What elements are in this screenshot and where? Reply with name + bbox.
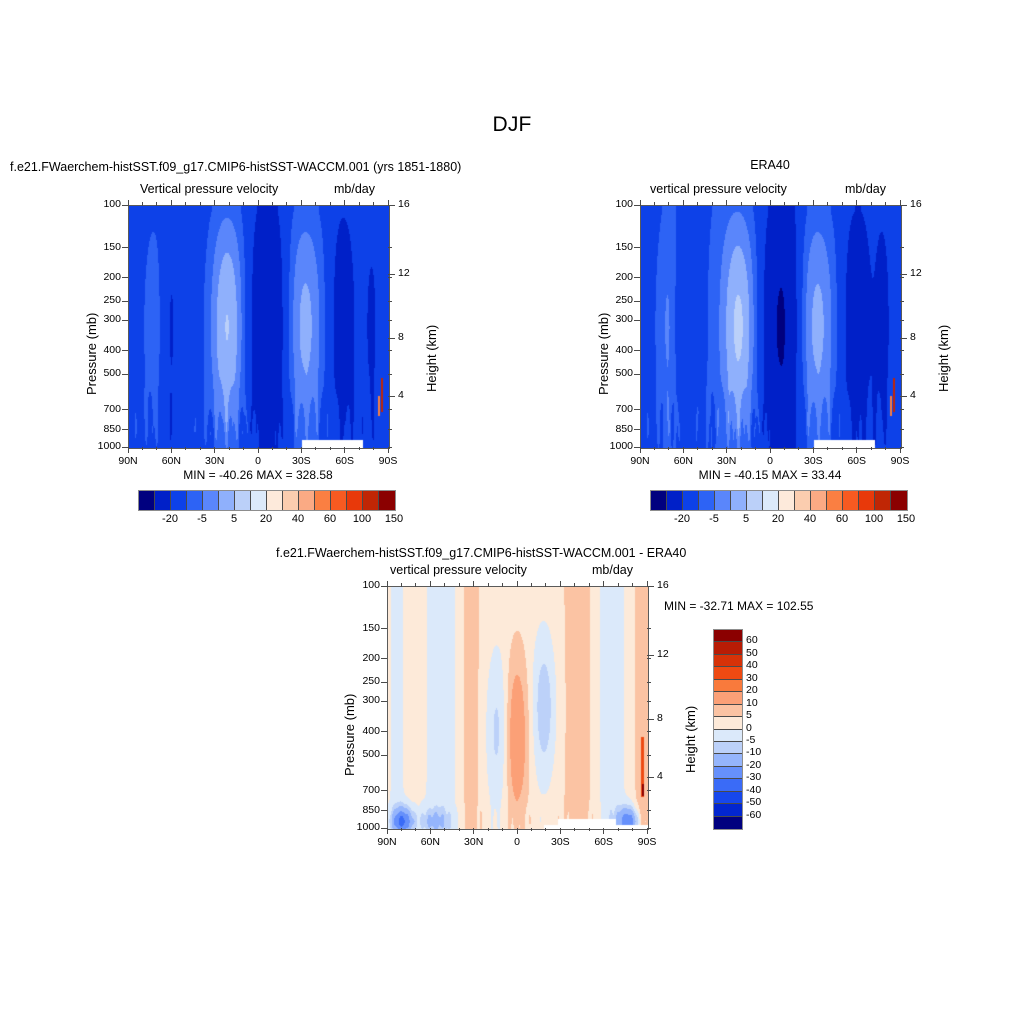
- diff-ytick-mark-r-400: [647, 731, 651, 732]
- colorbar-cell-0: [651, 491, 667, 510]
- model-ytick-mark-r-500: [388, 374, 392, 375]
- model-xtick-minor: [200, 447, 201, 450]
- diff-ytick-label-100: 100: [347, 579, 380, 591]
- obs-xtick-minor: [827, 447, 828, 450]
- diff-xtick-label-90N: 90N: [365, 836, 409, 848]
- obs-xtick-minor-top: [741, 202, 742, 206]
- diff-xtick-mark-0: [517, 828, 518, 834]
- diff-colorbar-label-50: 50: [746, 647, 786, 659]
- model-xtick-minor: [243, 447, 244, 450]
- diff-ytick-label-150: 150: [347, 622, 380, 634]
- model-units-label: mb/day: [334, 182, 375, 196]
- model-ytick-mark-150: [122, 247, 128, 248]
- model-xtick-mark-top-90N: [128, 200, 129, 206]
- model-xtick-label-90S: 90S: [366, 455, 410, 467]
- obs-ytick-mark-700: [634, 409, 640, 410]
- colorbar-cell-13: [347, 491, 363, 510]
- diff-xtick-label-30N: 30N: [452, 836, 496, 848]
- obs-ytick-mark-r-700: [900, 409, 904, 410]
- diff-xtick-mark-60N: [430, 828, 431, 834]
- model-htick-label-16: 16: [398, 198, 422, 210]
- model-htick-label-4: 4: [398, 389, 422, 401]
- diff-colorbar-label-20: 20: [746, 684, 786, 696]
- model-ytick-mark-r-1000: [388, 447, 392, 448]
- obs-xtick-mark-90N: [640, 447, 641, 453]
- model-xtick-mark-top-30S: [301, 200, 302, 206]
- model-xtick-label-30S: 30S: [279, 455, 323, 467]
- model-ytick-mark-250: [122, 301, 128, 302]
- obs-ytick-mark-r-850: [900, 429, 904, 430]
- diff-xtick-minor: [545, 828, 546, 831]
- diff-ytick-mark-500: [381, 755, 387, 756]
- colorbar-cell-4: [715, 491, 731, 510]
- model-xtick-minor: [156, 447, 157, 450]
- obs-xtick-mark-top-90N: [640, 200, 641, 206]
- diff-xtick-minor-top: [589, 583, 590, 587]
- diff-ytick-mark-150: [381, 628, 387, 629]
- model-contour-canvas: [129, 206, 389, 448]
- model-xtick-minor: [315, 447, 316, 450]
- model-variable-label: Vertical pressure velocity: [140, 182, 278, 196]
- diff-colorbar-label--30: -30: [746, 771, 786, 783]
- model-ytick-mark-r-150: [388, 247, 392, 248]
- obs-xtick-mark-0: [770, 447, 771, 453]
- diff-xtick-mark-top-30S: [560, 581, 561, 587]
- diff-xtick-minor-top: [531, 583, 532, 587]
- diff-xtick-label-0: 0: [495, 836, 539, 848]
- obs-htick-mark-16: [900, 205, 907, 206]
- diff-ytick-mark-r-200: [647, 658, 651, 659]
- colorbar-cell-14: [363, 491, 379, 510]
- diff-xtick-mark-top-0: [517, 581, 518, 587]
- model-ytick-label-1000: 1000: [88, 440, 121, 452]
- obs-xtick-mark-60S: [856, 447, 857, 453]
- obs-xtick-label-30N: 30N: [705, 455, 749, 467]
- diff-colorbar-label-30: 30: [746, 672, 786, 684]
- model-xtick-mark-top-60N: [171, 200, 172, 206]
- diff-xtick-minor: [459, 828, 460, 831]
- model-y-axis-title: Pressure (mb): [84, 313, 99, 395]
- model-htick-label-12: 12: [398, 267, 422, 279]
- obs-htick-mark-8: [900, 338, 907, 339]
- diff-ytick-label-850: 850: [347, 804, 380, 816]
- colorbar-cell-11: [315, 491, 331, 510]
- colorbar-cell-5: [731, 491, 747, 510]
- obs-xtick-mark-top-60S: [856, 200, 857, 206]
- obs-contour-canvas: [641, 206, 901, 448]
- obs-xtick-mark-top-0: [770, 200, 771, 206]
- model-xtick-minor-top: [156, 202, 157, 206]
- model-ytick-mark-r-300: [388, 320, 392, 321]
- model-y2-axis-title: Height (km): [424, 325, 439, 392]
- model-xtick-label-60S: 60S: [323, 455, 367, 467]
- diff-colorbar-label--5: -5: [746, 734, 786, 746]
- model-xtick-minor-top: [359, 202, 360, 206]
- diff-ytick-mark-300: [381, 701, 387, 702]
- diff-ytick-mark-r-1000: [647, 828, 651, 829]
- colorbar-cell-3: [187, 491, 203, 510]
- diff-xtick-minor-top: [618, 583, 619, 587]
- obs-xtick-minor-top: [697, 202, 698, 206]
- model-xtick-minor-top: [185, 202, 186, 206]
- obs-xtick-minor-top: [668, 202, 669, 206]
- diff-y-axis-title: Pressure (mb): [342, 694, 357, 776]
- model-xtick-label-30N: 30N: [193, 455, 237, 467]
- model-xtick-mark-90N: [128, 447, 129, 453]
- obs-xtick-minor: [712, 447, 713, 450]
- diff-xtick-minor: [401, 828, 402, 831]
- obs-colorbar: [650, 490, 908, 511]
- obs-htick-mark-4: [900, 396, 907, 397]
- diff-xtick-mark-top-90N: [387, 581, 388, 587]
- diff-htick-mark-16: [647, 586, 654, 587]
- obs-contour-plot: [640, 205, 902, 449]
- model-xtick-minor: [286, 447, 287, 450]
- obs-xtick-minor: [668, 447, 669, 450]
- diff-htick-mark-12: [647, 655, 654, 656]
- diff-xtick-minor-top: [632, 583, 633, 587]
- diff-colorbar-label--40: -40: [746, 784, 786, 796]
- model-xtick-minor-top: [315, 202, 316, 206]
- model-ytick-label-850: 850: [88, 423, 121, 435]
- diff-colorbar-label-40: 40: [746, 659, 786, 671]
- obs-ytick-mark-300: [634, 320, 640, 321]
- obs-xtick-minor: [842, 447, 843, 450]
- diff-colorbar-cell-9: [714, 742, 742, 754]
- obs-xtick-minor: [798, 447, 799, 450]
- diff-colorbar-cell-1: [714, 642, 742, 654]
- model-xtick-minor: [373, 447, 374, 450]
- diff-colorbar: [713, 629, 743, 830]
- obs-htick-label-12: 12: [910, 267, 934, 279]
- colorbar-cell-7: [251, 491, 267, 510]
- diff-xtick-minor: [589, 828, 590, 831]
- obs-minmax-text: MIN = -40.15 MAX = 33.44: [640, 468, 900, 482]
- diff-ytick-mark-250: [381, 682, 387, 683]
- colorbar-cell-6: [747, 491, 763, 510]
- model-xtick-minor-top: [286, 202, 287, 206]
- model-xtick-mark-top-60S: [344, 200, 345, 206]
- diff-colorbar-label--50: -50: [746, 796, 786, 808]
- diff-htick-label-12: 12: [657, 648, 681, 660]
- obs-xtick-label-0: 0: [748, 455, 792, 467]
- model-ytick-label-700: 700: [88, 403, 121, 415]
- obs-variable-label: vertical pressure velocity: [650, 182, 787, 196]
- obs-ytick-mark-r-1000: [900, 447, 904, 448]
- obs-xtick-minor-top: [842, 202, 843, 206]
- diff-panel-caption: f.e21.FWaerchem-histSST.f09_g17.CMIP6-hi…: [276, 546, 686, 560]
- obs-xtick-label-90N: 90N: [618, 455, 662, 467]
- diff-colorbar-label--10: -10: [746, 746, 786, 758]
- obs-xtick-minor-top: [827, 202, 828, 206]
- model-htick-label-8: 8: [398, 331, 422, 343]
- model-xtick-mark-top-0: [258, 200, 259, 206]
- model-xtick-mark-60S: [344, 447, 345, 453]
- obs-ytick-mark-r-500: [900, 374, 904, 375]
- obs-xtick-mark-top-60N: [683, 200, 684, 206]
- model-xtick-mark-top-90S: [388, 200, 389, 206]
- obs-xtick-minor-top: [784, 202, 785, 206]
- diff-xtick-minor: [415, 828, 416, 831]
- model-ytick-label-250: 250: [88, 294, 121, 306]
- obs-panel-caption: ERA40: [640, 158, 900, 172]
- colorbar-label-150: 150: [881, 513, 931, 525]
- obs-ytick-label-250: 250: [600, 294, 633, 306]
- diff-xtick-label-90S: 90S: [625, 836, 669, 848]
- obs-ytick-mark-r-150: [900, 247, 904, 248]
- obs-xtick-minor-top: [885, 202, 886, 206]
- model-ytick-label-150: 150: [88, 241, 121, 253]
- colorbar-cell-7: [763, 491, 779, 510]
- model-htick-mark-12: [388, 274, 395, 275]
- obs-xtick-mark-60N: [683, 447, 684, 453]
- diff-ytick-mark-r-300: [647, 701, 651, 702]
- obs-xtick-minor: [654, 447, 655, 450]
- model-xtick-minor: [330, 447, 331, 450]
- model-ytick-mark-r-250: [388, 301, 392, 302]
- colorbar-label-150: 150: [369, 513, 419, 525]
- diff-colorbar-label-60: 60: [746, 634, 786, 646]
- diff-colorbar-cell-4: [714, 680, 742, 692]
- obs-ytick-mark-400: [634, 350, 640, 351]
- diff-xtick-minor-top: [502, 583, 503, 587]
- diff-ytick-label-1000: 1000: [347, 821, 380, 833]
- diff-xtick-minor: [531, 828, 532, 831]
- colorbar-cell-6: [235, 491, 251, 510]
- diff-minmax-text: MIN = -32.71 MAX = 102.55: [664, 599, 813, 613]
- model-xtick-mark-0: [258, 447, 259, 453]
- model-ytick-mark-r-200: [388, 277, 392, 278]
- model-ytick-label-100: 100: [88, 198, 121, 210]
- diff-contour-plot: [387, 586, 649, 830]
- model-xtick-mark-90S: [388, 447, 389, 453]
- obs-ytick-label-100: 100: [600, 198, 633, 210]
- obs-ytick-mark-r-400: [900, 350, 904, 351]
- model-xtick-label-90N: 90N: [106, 455, 150, 467]
- diff-htick-label-4: 4: [657, 770, 681, 782]
- obs-htick-mark-12: [900, 274, 907, 275]
- obs-ytick-mark-r-250: [900, 301, 904, 302]
- model-xtick-mark-30S: [301, 447, 302, 453]
- diff-xtick-mark-90N: [387, 828, 388, 834]
- figure-title: DJF: [0, 113, 1024, 137]
- model-xtick-mark-top-30N: [214, 200, 215, 206]
- diff-colorbar-label-0: 0: [746, 722, 786, 734]
- model-htick-mark-8: [388, 338, 395, 339]
- colorbar-cell-15: [379, 491, 395, 510]
- obs-ytick-mark-r-200: [900, 277, 904, 278]
- diff-colorbar-cell-6: [714, 705, 742, 717]
- obs-xtick-minor: [885, 447, 886, 450]
- diff-colorbar-cell-10: [714, 754, 742, 766]
- diff-colorbar-cell-3: [714, 667, 742, 679]
- colorbar-cell-9: [283, 491, 299, 510]
- model-xtick-minor-top: [243, 202, 244, 206]
- obs-xtick-mark-90S: [900, 447, 901, 453]
- obs-xtick-label-90S: 90S: [878, 455, 922, 467]
- model-htick-mark-16: [388, 205, 395, 206]
- obs-xtick-minor-top: [712, 202, 713, 206]
- diff-xtick-minor: [632, 828, 633, 831]
- diff-xtick-label-30S: 30S: [538, 836, 582, 848]
- obs-ytick-mark-850: [634, 429, 640, 430]
- colorbar-cell-10: [811, 491, 827, 510]
- diff-xtick-label-60N: 60N: [408, 836, 452, 848]
- diff-htick-label-8: 8: [657, 712, 681, 724]
- obs-htick-label-8: 8: [910, 331, 934, 343]
- model-xtick-label-60N: 60N: [149, 455, 193, 467]
- model-ytick-mark-300: [122, 320, 128, 321]
- diff-xtick-minor: [488, 828, 489, 831]
- diff-xtick-minor-top: [415, 583, 416, 587]
- diff-ytick-mark-200: [381, 658, 387, 659]
- diff-colorbar-cell-11: [714, 767, 742, 779]
- diff-colorbar-cell-2: [714, 655, 742, 667]
- obs-xtick-label-60N: 60N: [661, 455, 705, 467]
- diff-colorbar-cell-12: [714, 779, 742, 791]
- diff-xtick-mark-top-30N: [473, 581, 474, 587]
- colorbar-cell-5: [219, 491, 235, 510]
- colorbar-cell-2: [683, 491, 699, 510]
- diff-colorbar-cell-15: [714, 817, 742, 829]
- diff-htick-label-16: 16: [657, 579, 681, 591]
- model-xtick-minor: [229, 447, 230, 450]
- model-xtick-minor-top: [330, 202, 331, 206]
- model-ytick-mark-r-850: [388, 429, 392, 430]
- diff-xtick-label-60S: 60S: [582, 836, 626, 848]
- obs-xtick-mark-30S: [813, 447, 814, 453]
- model-xtick-mark-60N: [171, 447, 172, 453]
- diff-xtick-mark-top-90S: [647, 581, 648, 587]
- diff-xtick-minor-top: [444, 583, 445, 587]
- obs-xtick-minor: [871, 447, 872, 450]
- diff-xtick-minor-top: [574, 583, 575, 587]
- model-ytick-mark-200: [122, 277, 128, 278]
- model-xtick-minor-top: [272, 202, 273, 206]
- model-xtick-minor-top: [142, 202, 143, 206]
- diff-xtick-mark-top-60N: [430, 581, 431, 587]
- diff-colorbar-label-10: 10: [746, 697, 786, 709]
- obs-xtick-minor-top: [654, 202, 655, 206]
- diff-colorbar-label--60: -60: [746, 809, 786, 821]
- obs-xtick-mark-top-90S: [900, 200, 901, 206]
- obs-y2-axis-title: Height (km): [936, 325, 951, 392]
- colorbar-cell-1: [667, 491, 683, 510]
- model-panel-caption: f.e21.FWaerchem-histSST.f09_g17.CMIP6-hi…: [10, 160, 461, 174]
- obs-xtick-minor: [755, 447, 756, 450]
- obs-ytick-mark-250: [634, 301, 640, 302]
- diff-y2-axis-title: Height (km): [683, 706, 698, 773]
- model-ytick-mark-r-700: [388, 409, 392, 410]
- obs-ytick-mark-500: [634, 374, 640, 375]
- diff-xtick-minor-top: [401, 583, 402, 587]
- diff-ytick-mark-r-700: [647, 790, 651, 791]
- model-ytick-mark-500: [122, 374, 128, 375]
- colorbar-cell-14: [875, 491, 891, 510]
- diff-xtick-mark-30N: [473, 828, 474, 834]
- model-xtick-minor: [359, 447, 360, 450]
- model-ytick-mark-400: [122, 350, 128, 351]
- obs-ytick-label-700: 700: [600, 403, 633, 415]
- diff-xtick-minor: [574, 828, 575, 831]
- diff-xtick-mark-top-60S: [603, 581, 604, 587]
- diff-xtick-mark-30S: [560, 828, 561, 834]
- diff-ytick-mark-r-850: [647, 810, 651, 811]
- obs-xtick-minor-top: [755, 202, 756, 206]
- colorbar-cell-9: [795, 491, 811, 510]
- obs-ytick-label-200: 200: [600, 271, 633, 283]
- colorbar-cell-0: [139, 491, 155, 510]
- diff-ytick-mark-r-500: [647, 755, 651, 756]
- model-xtick-mark-30N: [214, 447, 215, 453]
- model-xtick-label-0: 0: [236, 455, 280, 467]
- diff-xtick-minor: [444, 828, 445, 831]
- diff-xtick-minor: [618, 828, 619, 831]
- diff-htick-mark-8: [647, 719, 654, 720]
- obs-ytick-label-1000: 1000: [600, 440, 633, 452]
- model-ytick-mark-850: [122, 429, 128, 430]
- diff-colorbar-label--20: -20: [746, 759, 786, 771]
- diff-ytick-mark-850: [381, 810, 387, 811]
- diff-htick-mark-4: [647, 777, 654, 778]
- model-xtick-minor-top: [373, 202, 374, 206]
- model-xtick-minor: [142, 447, 143, 450]
- colorbar-cell-8: [779, 491, 795, 510]
- obs-xtick-minor: [697, 447, 698, 450]
- colorbar-cell-3: [699, 491, 715, 510]
- diff-colorbar-cell-13: [714, 792, 742, 804]
- model-minmax-text: MIN = -40.26 MAX = 328.58: [128, 468, 388, 482]
- colorbar-cell-10: [299, 491, 315, 510]
- diff-ytick-mark-700: [381, 790, 387, 791]
- diff-colorbar-cell-5: [714, 692, 742, 704]
- diff-xtick-minor-top: [545, 583, 546, 587]
- model-xtick-minor: [185, 447, 186, 450]
- colorbar-cell-15: [891, 491, 907, 510]
- obs-y-axis-title: Pressure (mb): [596, 313, 611, 395]
- obs-xtick-minor-top: [871, 202, 872, 206]
- obs-htick-label-4: 4: [910, 389, 934, 401]
- obs-xtick-mark-top-30S: [813, 200, 814, 206]
- diff-colorbar-cell-14: [714, 804, 742, 816]
- diff-colorbar-label-5: 5: [746, 709, 786, 721]
- model-xtick-minor-top: [229, 202, 230, 206]
- model-ytick-mark-700: [122, 409, 128, 410]
- diff-ytick-label-700: 700: [347, 784, 380, 796]
- obs-ytick-label-850: 850: [600, 423, 633, 435]
- obs-xtick-label-30S: 30S: [791, 455, 835, 467]
- diff-units-label: mb/day: [592, 563, 633, 577]
- obs-xtick-mark-top-30N: [726, 200, 727, 206]
- diff-xtick-minor-top: [488, 583, 489, 587]
- obs-xtick-mark-30N: [726, 447, 727, 453]
- obs-htick-label-16: 16: [910, 198, 934, 210]
- obs-xtick-minor: [741, 447, 742, 450]
- colorbar-cell-12: [331, 491, 347, 510]
- obs-ytick-mark-150: [634, 247, 640, 248]
- obs-xtick-label-60S: 60S: [835, 455, 879, 467]
- obs-units-label: mb/day: [845, 182, 886, 196]
- colorbar-cell-4: [203, 491, 219, 510]
- model-htick-mark-4: [388, 396, 395, 397]
- colorbar-cell-2: [171, 491, 187, 510]
- diff-ytick-label-250: 250: [347, 675, 380, 687]
- diff-xtick-mark-90S: [647, 828, 648, 834]
- diff-xtick-minor-top: [459, 583, 460, 587]
- colorbar-cell-1: [155, 491, 171, 510]
- model-xtick-minor: [272, 447, 273, 450]
- diff-xtick-mark-60S: [603, 828, 604, 834]
